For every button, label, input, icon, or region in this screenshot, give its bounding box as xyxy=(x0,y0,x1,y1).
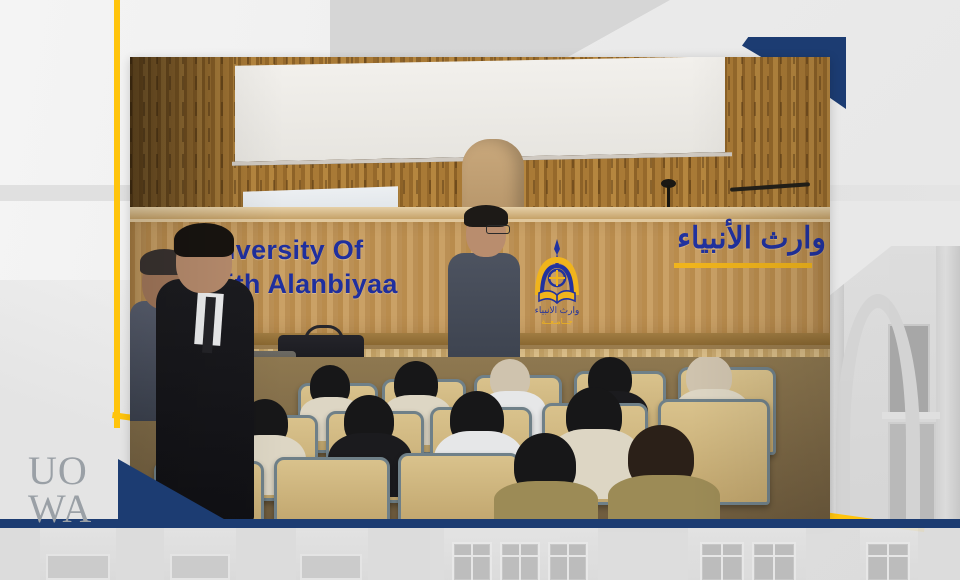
arabic-sign-text: وارث الأنبياء xyxy=(677,221,826,257)
facade-window xyxy=(752,542,796,580)
university-emblem-icon: وارث الانبياء جــامـعــة xyxy=(527,233,587,329)
facade-window xyxy=(452,542,492,580)
facade-grill xyxy=(170,554,230,580)
standing-man-hair xyxy=(174,223,234,257)
bottom-navy-band xyxy=(0,519,960,528)
svg-text:وارث الانبياء: وارث الانبياء xyxy=(535,305,580,316)
facade-wall xyxy=(236,528,296,580)
svg-text:جــامـعــة: جــامـعــة xyxy=(541,317,573,326)
walking-man-glasses xyxy=(486,225,510,234)
banner-canvas: iversity Of rith Alanbiyaa وارث الأنبياء… xyxy=(0,0,960,580)
facade-grill xyxy=(300,554,362,580)
seat xyxy=(274,457,390,521)
facade-wall xyxy=(0,528,40,580)
facade-window xyxy=(548,542,588,580)
facade-window xyxy=(700,542,744,580)
walking-man-hair xyxy=(464,205,508,227)
yellow-accent-vertical xyxy=(114,0,120,428)
facade-wall xyxy=(368,528,444,580)
uowa-logo-line2: WA xyxy=(28,490,92,528)
facade-wall xyxy=(116,528,164,580)
facade-wall xyxy=(918,528,960,580)
facade-window xyxy=(500,542,540,580)
arabic-sign-underline xyxy=(674,263,812,268)
facade-wall xyxy=(598,528,688,580)
facade-wall xyxy=(806,528,860,580)
facade-grill xyxy=(46,554,110,580)
uowa-logo: UO WA xyxy=(28,452,92,528)
audience-person-front-shoulders xyxy=(494,481,598,521)
uowa-logo-line1: UO xyxy=(28,452,92,490)
facade-window xyxy=(866,542,910,580)
campus-facade-watermark xyxy=(0,528,960,580)
campus-archway-watermark xyxy=(828,246,960,528)
audience-person-front-shoulders xyxy=(608,475,720,521)
event-photo: iversity Of rith Alanbiyaa وارث الأنبياء… xyxy=(130,57,830,521)
arch-pier-right xyxy=(936,246,960,528)
